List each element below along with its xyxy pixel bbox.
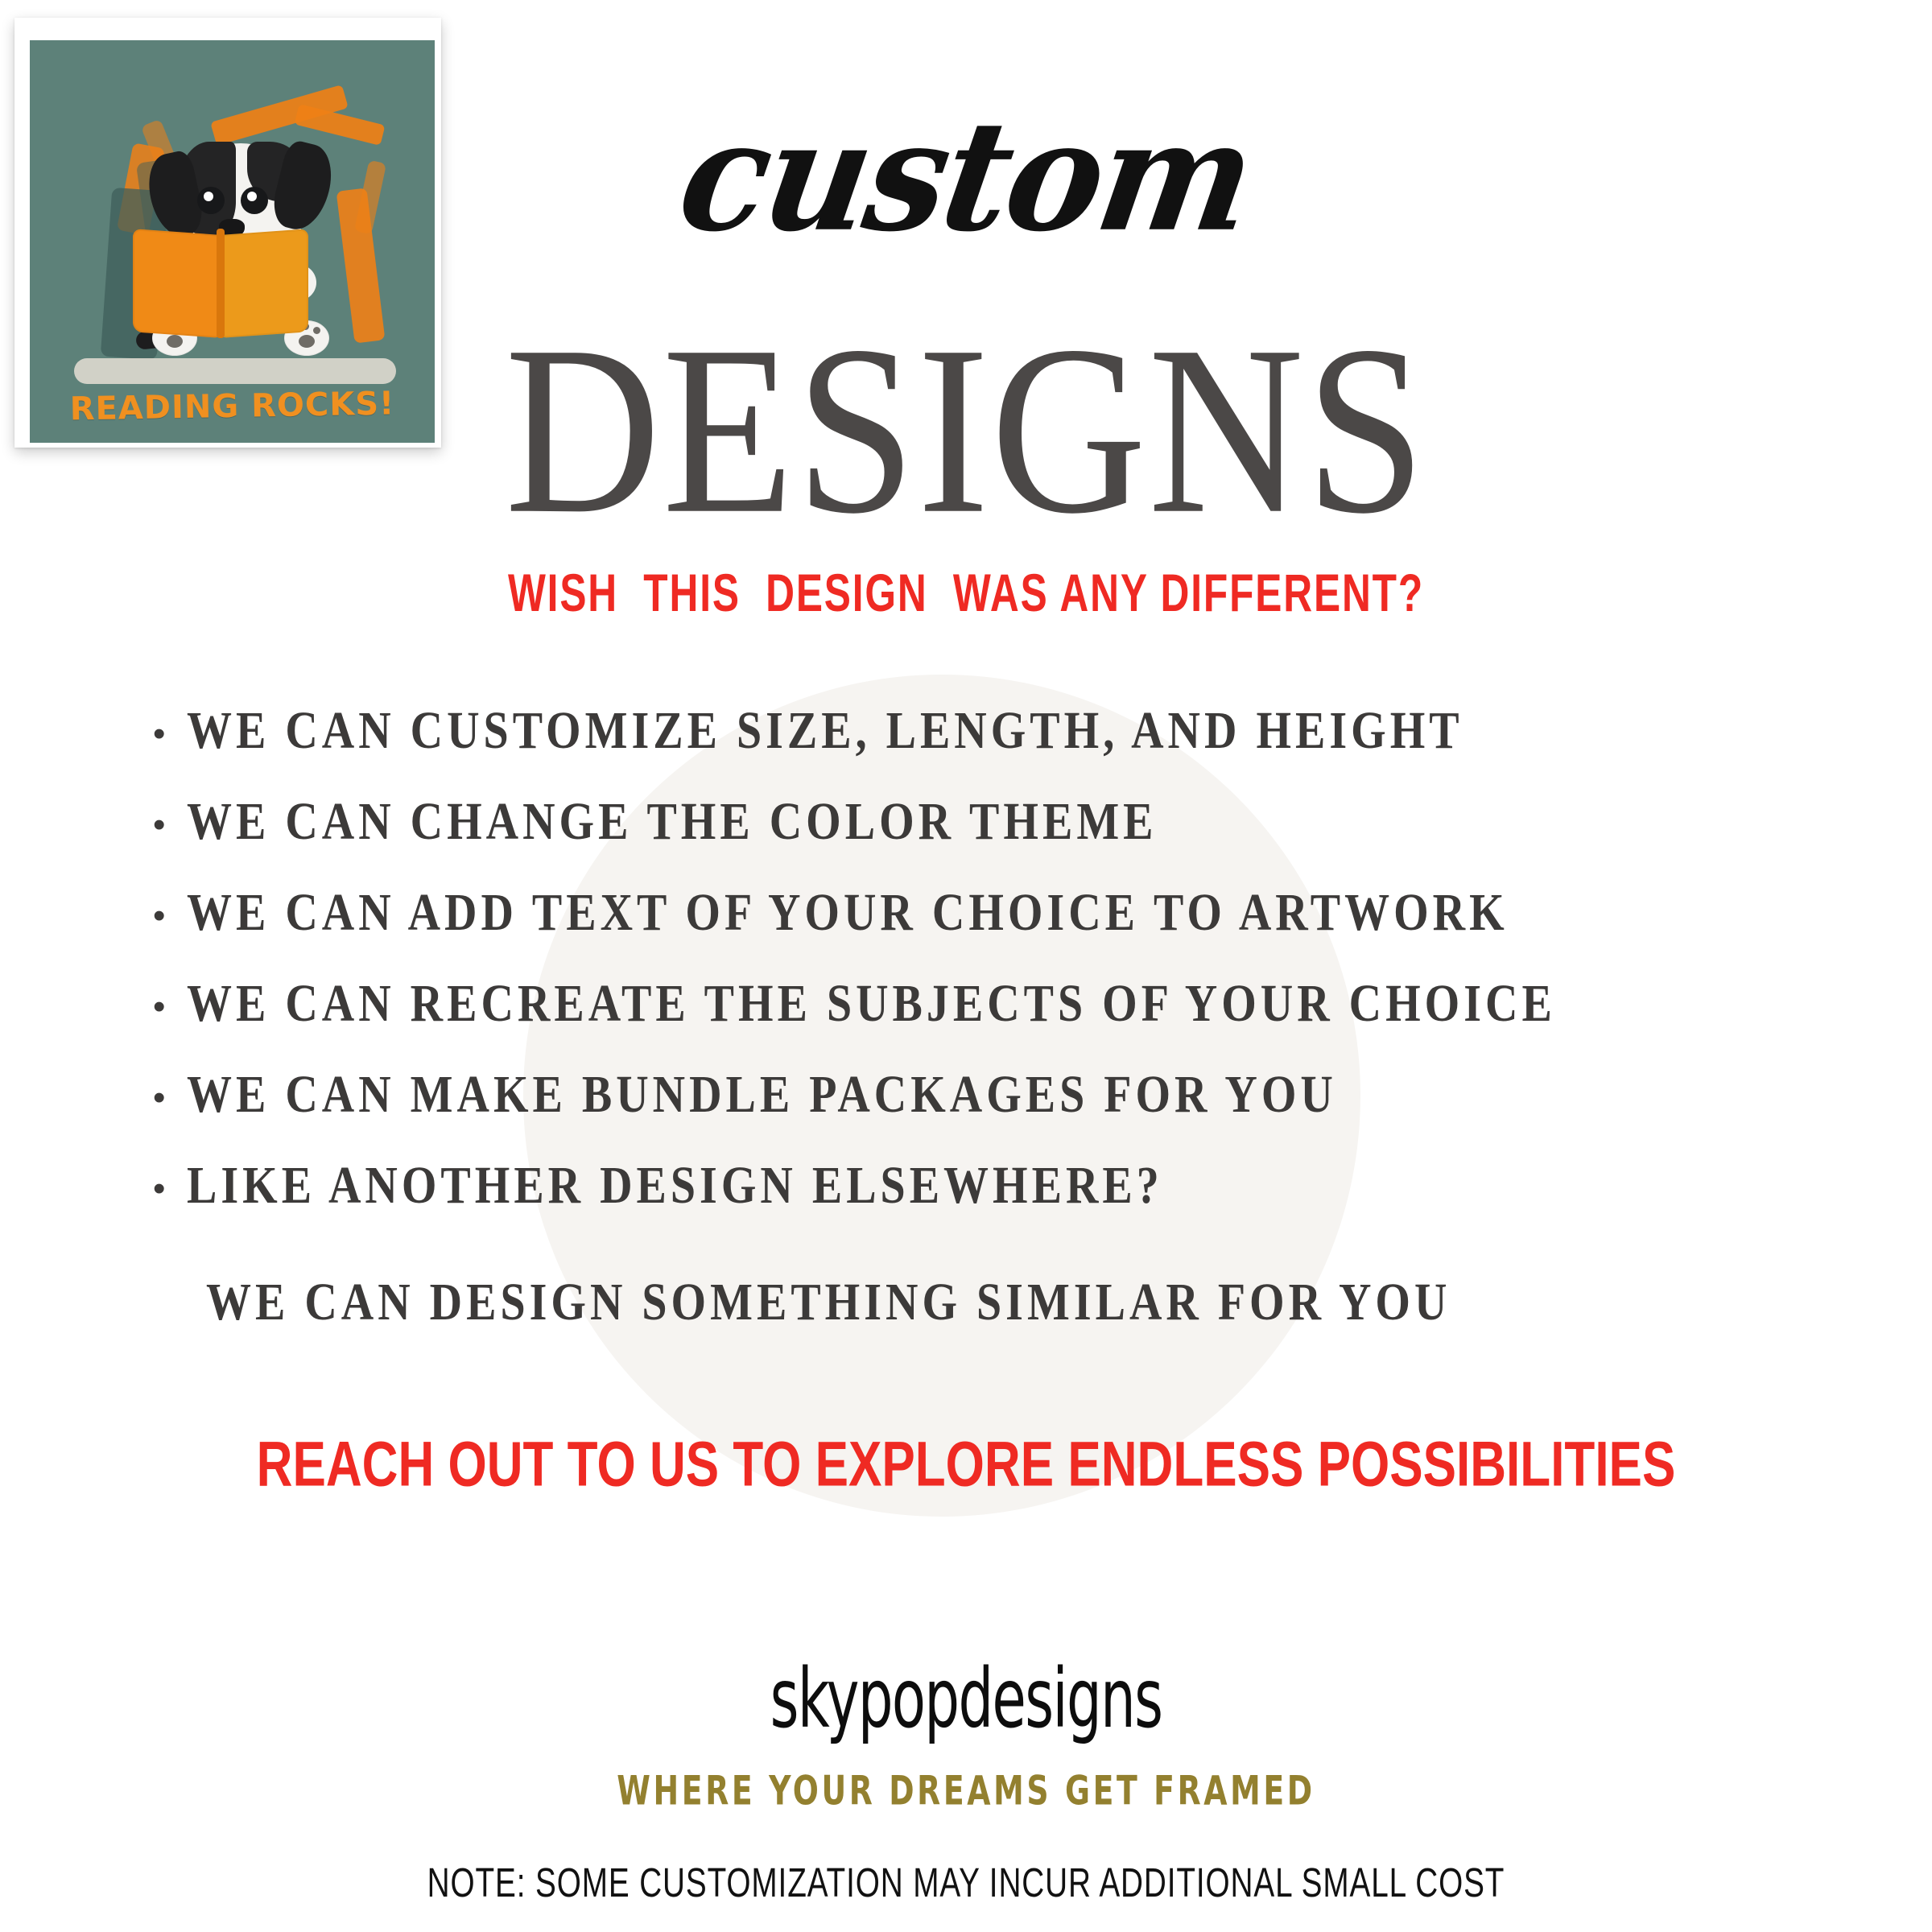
list-item-continuation-label: WE CAN DESIGN SOMETHING SIMILAR FOR YOU [206,1276,1451,1329]
bullet-dot-icon: • [153,1080,187,1116]
list-item: • WE CAN CUSTOMIZE SIZE, LENGTH, AND HEI… [153,708,1843,799]
bullet-dot-icon: • [153,1171,187,1207]
artwork-caption: READING ROCKS! [30,385,435,429]
puppy-eye-right [241,187,268,214]
list-item: • WE CAN MAKE BUNDLE PACKAGES FOR YOU [153,1072,1843,1163]
page-subtitle: WISH THIS DESIGN WAS ANY DIFFERENT? [77,567,1855,620]
call-to-action-text[interactable]: REACH OUT TO US TO EXPLORE ENDLESS POSSI… [58,1431,1874,1495]
list-item-label: WE CAN RECREATE THE SUBJECTS OF YOUR CHO… [187,977,1556,1030]
bullet-dot-icon: • [153,898,187,934]
list-item-label: WE CAN MAKE BUNDLE PACKAGES FOR YOU [187,1068,1337,1121]
open-book-icon [133,232,310,335]
bullet-dot-icon: • [153,807,187,843]
list-item-label: WE CAN CUSTOMIZE SIZE, LENGTH, AND HEIGH… [187,704,1463,758]
bullet-dot-icon: • [153,716,187,752]
footer-note: NOTE: SOME CUSTOMIZATION MAY INCUR ADDIT… [116,1863,1816,1904]
list-item-label: WE CAN CHANGE THE COLOR THEME [187,795,1158,848]
artwork-canvas: READING ROCKS! [30,40,435,443]
brand-tagline: WHERE YOUR DREAMS GET FRAMED [97,1771,1835,1811]
list-item: • WE CAN ADD TEXT OF YOUR CHOICE TO ARTW… [153,890,1843,981]
list-item: • LIKE ANOTHER DESIGN ELSEWHERE? [153,1163,1843,1254]
customization-options-list: • WE CAN CUSTOMIZE SIZE, LENGTH, AND HEI… [153,708,1843,1254]
bullet-dot-icon: • [153,989,187,1025]
list-item: • WE CAN RECREATE THE SUBJECTS OF YOUR C… [153,981,1843,1072]
puppy-eye-left [197,187,225,214]
list-item-label: LIKE ANOTHER DESIGN ELSEWHERE? [187,1159,1163,1212]
list-item-label: WE CAN ADD TEXT OF YOUR CHOICE TO ARTWOR… [187,886,1509,939]
list-item: • WE CAN CHANGE THE COLOR THEME [153,799,1843,890]
artwork-preview-card[interactable]: READING ROCKS! [14,18,441,448]
brand-logo-text: skypopdesigns [193,1658,1739,1740]
